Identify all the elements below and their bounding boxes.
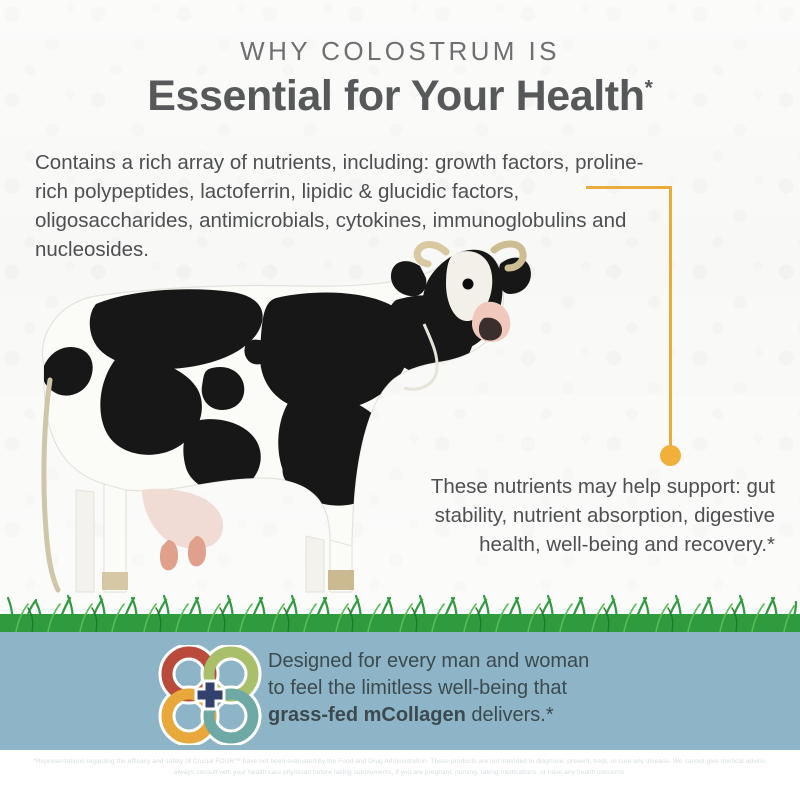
cow-leg-back-near	[76, 490, 94, 592]
brand-statement-line-2: to feel the limitless well-being that	[268, 675, 738, 702]
crucial-four-logo-icon	[158, 645, 262, 745]
disclaimer-area: *Representations regarding the efficacy …	[0, 750, 800, 800]
infographic-page: WHY COLOSTRUM IS Essential for Your Heal…	[0, 0, 800, 800]
connector-end-dot-icon	[660, 445, 681, 466]
cow-teat-2	[160, 540, 178, 570]
page-title-text: Essential for Your Health	[147, 72, 644, 120]
disclaimer-text: *Representations regarding the efficacy …	[22, 756, 778, 778]
page-title-asterisk: *	[645, 77, 653, 100]
cow-svg	[0, 240, 540, 632]
page-kicker: WHY COLOSTRUM IS	[0, 36, 800, 67]
cow-leg-front-near	[306, 536, 324, 592]
cow-udder	[142, 489, 223, 549]
cow-illustration	[0, 240, 540, 632]
brand-statement-line-3: grass-fed mCollagen delivers.*	[268, 702, 738, 729]
brand-statement: Designed for every man and woman to feel…	[268, 648, 738, 729]
callout-paragraph: These nutrients may help support: gut st…	[420, 472, 775, 559]
grass-strip	[0, 588, 800, 632]
brand-statement-line-1: Designed for every man and woman	[268, 648, 738, 675]
brand-statement-line-3-rest: delivers.*	[466, 704, 554, 726]
brand-product-name: grass-fed mCollagen	[268, 704, 466, 726]
connector-vertical-line	[669, 186, 672, 454]
connector-horizontal-line	[586, 186, 672, 189]
page-title: Essential for Your Health*	[0, 72, 800, 121]
cow-hoof-front	[328, 570, 354, 590]
